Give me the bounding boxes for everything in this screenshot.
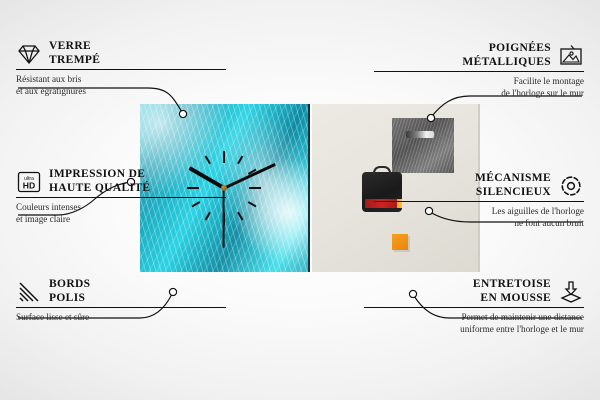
callout-heading: VERRE TREMPÉ xyxy=(16,40,226,69)
callout-verre-trempe: VERRE TREMPÉ Résistant aux bris et aux é… xyxy=(16,40,226,98)
callout-description: Résistant aux bris et aux égratignures xyxy=(16,70,226,97)
callout-entretoise-en-mousse: ENTRETOISE EN MOUSSE Permet de maintenir… xyxy=(364,278,584,336)
callout-poignees-metalliques: POIGNÉES MÉTALLIQUES Facilite le montage… xyxy=(374,42,584,100)
callout-heading: MÉCANISME SILENCIEUX xyxy=(374,172,584,201)
callout-heading: POIGNÉES MÉTALLIQUES xyxy=(374,42,584,71)
callout-mecanisme-silencieux: MÉCANISME SILENCIEUX Les aiguilles de l'… xyxy=(374,172,584,230)
callout-heading: ultra HD IMPRESSION DE HAUTE QUALITÉ xyxy=(16,168,226,197)
callout-description: Couleurs intenses et image claire xyxy=(16,198,226,225)
callout-impression-haute-qualite: ultra HD IMPRESSION DE HAUTE QUALITÉ Cou… xyxy=(16,168,226,226)
callout-title: ENTRETOISE EN MOUSSE xyxy=(473,278,551,305)
diamond-icon xyxy=(16,42,42,66)
callout-description: Les aiguilles de l'horloge ne font aucun… xyxy=(374,202,584,229)
callout-title: POIGNÉES MÉTALLIQUES xyxy=(462,42,551,69)
callout-title: BORDS POLIS xyxy=(49,278,90,305)
callout-heading: ENTRETOISE EN MOUSSE xyxy=(364,278,584,307)
callout-description: Permet de maintenir une distance uniform… xyxy=(364,308,584,335)
callout-description: Facilite le montage de l'horloge sur le … xyxy=(374,72,584,99)
gear-icon xyxy=(558,174,584,198)
callout-heading: BORDS POLIS xyxy=(16,278,226,307)
infographic-poster: VERRE TREMPÉ Résistant aux bris et aux é… xyxy=(0,0,600,400)
callout-title: MÉCANISME SILENCIEUX xyxy=(475,172,551,199)
callout-bords-polis: BORDS POLIS Surface lisse et sûre xyxy=(16,278,226,323)
svg-text:HD: HD xyxy=(23,180,35,190)
callout-description: Surface lisse et sûre xyxy=(16,308,226,323)
spacer-arrow-icon xyxy=(558,280,584,304)
ultra-hd-icon: ultra HD xyxy=(16,170,42,194)
callout-title: VERRE TREMPÉ xyxy=(49,40,100,67)
polished-edge-icon xyxy=(16,280,42,304)
foam-spacer xyxy=(392,234,408,250)
hanger-slot xyxy=(406,131,434,138)
wall-frame-icon xyxy=(558,44,584,68)
metal-hanger-plate xyxy=(392,118,454,173)
callout-title: IMPRESSION DE HAUTE QUALITÉ xyxy=(49,168,150,195)
